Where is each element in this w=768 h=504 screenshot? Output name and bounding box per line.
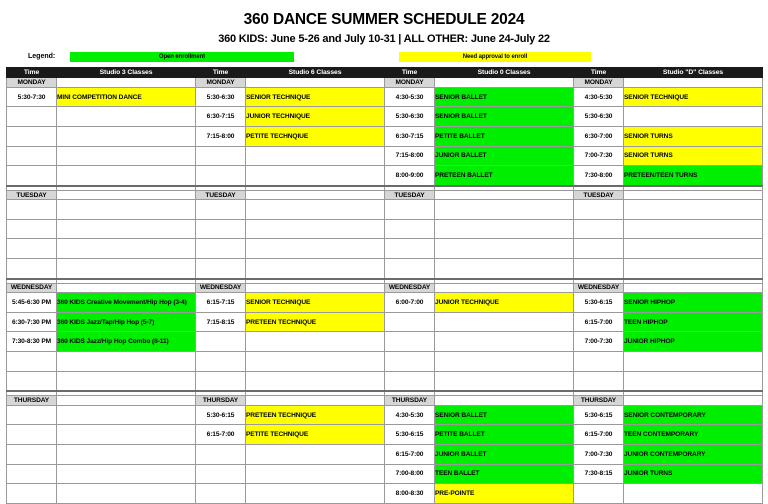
class-time: 8:00-9:00 (385, 166, 435, 186)
table-row: 6:15-7:00PETITE TECHNIQUE5:30-6:15PETITE… (7, 425, 763, 445)
class-time: 7:30-8:30 PM (7, 332, 57, 352)
class-entry-empty (246, 219, 385, 239)
class-time: 7:15-8:00 (196, 126, 246, 146)
class-time: 7:00-7:30 (574, 146, 624, 166)
class-entry-empty (57, 405, 196, 425)
day-label-wednesday: WEDNESDAY (196, 283, 246, 293)
class-time (196, 146, 246, 166)
legend-need-approval: Need approval to enroll (399, 52, 591, 62)
class-time: 4:30-5:30 (385, 87, 435, 107)
day-header-blank (246, 78, 385, 88)
class-time (7, 239, 57, 259)
table-row: 7:15-8:00JUNIOR BALLET7:00-7:30SENIOR TU… (7, 146, 763, 166)
day-header-blank (624, 396, 763, 406)
class-time (7, 166, 57, 186)
class-entry[interactable]: SENIOR TURNS (624, 146, 763, 166)
class-time (574, 259, 624, 279)
class-time (7, 464, 57, 484)
table-row (7, 219, 763, 239)
class-time (196, 239, 246, 259)
day-header-blank (624, 190, 763, 200)
schedule-table: Time Studio 3 Classes Time Studio 6 Clas… (6, 67, 763, 504)
class-entry[interactable]: SENIOR BALLET (435, 107, 574, 127)
table-row: 5:30-7:30MINI COMPETITION DANCE5:30-6:30… (7, 87, 763, 107)
table-row (7, 352, 763, 372)
day-header-blank (57, 78, 196, 88)
class-entry[interactable]: PETITE TECHNQIUE (246, 126, 385, 146)
day-header-blank (435, 78, 574, 88)
class-entry-empty (624, 259, 763, 279)
table-row: 7:00-8:00TEEN BALLET7:30-8:15JUNIOR TURN… (7, 464, 763, 484)
table-row (7, 200, 763, 220)
page-subtitle: 360 KIDS: June 5-26 and July 10-31 | ALL… (6, 28, 762, 45)
day-header-blank (624, 78, 763, 88)
table-row: 6:30-7:30 PM360 KIDS Jazz/Tap/Hip Hop (5… (7, 312, 763, 332)
class-time (196, 200, 246, 220)
class-entry-empty (246, 332, 385, 352)
table-row: 6:15-7:00JUNIOR BALLET7:00-7:30JUNIOR CO… (7, 445, 763, 465)
day-header-blank (246, 396, 385, 406)
class-entry[interactable]: TEEN CONTEMPORARY (624, 425, 763, 445)
class-time: 7:00-7:30 (574, 332, 624, 352)
schedule-body: MONDAYMONDAYMONDAYMONDAY5:30-7:30MINI CO… (7, 78, 763, 504)
class-entry-empty (624, 219, 763, 239)
col-time-4: Time (574, 68, 624, 78)
class-time (7, 484, 57, 504)
class-entry-empty (624, 239, 763, 259)
class-entry[interactable]: TEEN HIPHOP (624, 312, 763, 332)
class-entry-empty (246, 371, 385, 391)
class-entry[interactable]: PETITE TECHNIQUE (246, 425, 385, 445)
class-time (196, 484, 246, 504)
class-time: 6:15-7:00 (385, 445, 435, 465)
class-time (196, 219, 246, 239)
class-time (7, 126, 57, 146)
day-header-blank (435, 190, 574, 200)
class-entry-empty (57, 126, 196, 146)
class-time (7, 405, 57, 425)
class-time (7, 259, 57, 279)
class-time (385, 312, 435, 332)
day-header-row-monday: MONDAYMONDAYMONDAYMONDAY (7, 78, 763, 88)
legend: Legend: Open enrollment Need approval to… (6, 51, 762, 62)
day-header-blank (435, 283, 574, 293)
day-header-blank (246, 190, 385, 200)
table-row: 5:30-6:15PRETEEN TECHNIQUE4:30-5:30SENIO… (7, 405, 763, 425)
day-label-tuesday: TUESDAY (385, 190, 435, 200)
class-time: 6:15-7:00 (574, 312, 624, 332)
class-time (574, 352, 624, 372)
day-label-monday: MONDAY (385, 78, 435, 88)
class-time (196, 371, 246, 391)
class-time: 6:30-7:30 PM (7, 312, 57, 332)
class-entry-empty (624, 484, 763, 504)
class-time (7, 146, 57, 166)
class-entry-empty (435, 259, 574, 279)
class-time (385, 239, 435, 259)
table-row: 8:00-8:30PRE-POINTE (7, 484, 763, 504)
page-title: 360 DANCE SUMMER SCHEDULE 2024 (6, 0, 762, 28)
class-time: 7:00-8:00 (385, 464, 435, 484)
class-time (7, 445, 57, 465)
day-label-monday: MONDAY (574, 78, 624, 88)
class-time: 6:15-7:00 (574, 425, 624, 445)
class-entry[interactable]: TEEN BALLET (435, 464, 574, 484)
class-time: 6:00-7:00 (385, 293, 435, 313)
class-entry[interactable]: PETITE BALLET (435, 126, 574, 146)
class-entry[interactable]: PRETEEN TECHNIQUE (246, 405, 385, 425)
class-entry[interactable]: JUNIOR TECHNIQUE (435, 293, 574, 313)
table-row (7, 371, 763, 391)
class-time (385, 352, 435, 372)
table-row (7, 259, 763, 279)
class-entry-empty (57, 425, 196, 445)
class-time (196, 445, 246, 465)
class-entry[interactable]: SENIOR TECHNIQUE (624, 87, 763, 107)
day-label-thursday: THURSDAY (7, 396, 57, 406)
class-entry-empty (57, 445, 196, 465)
class-time: 5:30-6:30 (385, 107, 435, 127)
class-entry-empty (246, 484, 385, 504)
day-label-tuesday: TUESDAY (7, 190, 57, 200)
class-time (385, 200, 435, 220)
table-header-row: Time Studio 3 Classes Time Studio 6 Clas… (7, 68, 763, 78)
class-time (7, 352, 57, 372)
day-header-row-wednesday: WEDNESDAYWEDNESDAYWEDNESDAYWEDNESDAY (7, 283, 763, 293)
class-entry[interactable]: JUNIOR TURNS (624, 464, 763, 484)
class-entry[interactable]: JUNIOR BALLET (435, 445, 574, 465)
day-label-wednesday: WEDNESDAY (7, 283, 57, 293)
class-entry-empty (246, 146, 385, 166)
class-time: 5:30-6:30 (196, 87, 246, 107)
class-time (196, 464, 246, 484)
table-row: 8:00-9:00PRETEEN BALLET7:30-8:00PRETEEN/… (7, 166, 763, 186)
class-entry-empty (435, 239, 574, 259)
class-time: 7:00-7:30 (574, 445, 624, 465)
class-entry-empty (246, 200, 385, 220)
class-entry-empty (246, 239, 385, 259)
col-time-1: Time (7, 68, 57, 78)
class-time: 5:45-6:30 PM (7, 293, 57, 313)
class-time: 4:30-5:30 (385, 405, 435, 425)
day-header-blank (435, 396, 574, 406)
class-entry[interactable]: SENIOR CONTEMPORARY (624, 405, 763, 425)
class-entry[interactable]: 360 KIDS Jazz/Tap/Hip Hop (5-7) (57, 312, 196, 332)
class-time: 4:30-5:30 (574, 87, 624, 107)
class-time (7, 107, 57, 127)
class-entry-empty (57, 371, 196, 391)
day-label-thursday: THURSDAY (385, 396, 435, 406)
class-time: 6:15-7:00 (196, 425, 246, 445)
class-time: 5:30-7:30 (7, 87, 57, 107)
class-entry[interactable]: JUNIOR BALLET (435, 146, 574, 166)
class-time: 8:00-8:30 (385, 484, 435, 504)
class-entry[interactable]: 360 KIDS Jazz/Hip Hop Combo (8-11) (57, 332, 196, 352)
class-time: 5:30-6:15 (574, 293, 624, 313)
day-header-blank (57, 190, 196, 200)
col-studio3: Studio 3 Classes (57, 68, 196, 78)
day-header-blank (624, 283, 763, 293)
class-entry-empty (57, 352, 196, 372)
day-header-row-thursday: THURSDAYTHURSDAYTHURSDAYTHURSDAY (7, 396, 763, 406)
schedule-page: 360 DANCE SUMMER SCHEDULE 2024 360 KIDS:… (0, 0, 768, 478)
day-label-tuesday: TUESDAY (196, 190, 246, 200)
class-time (574, 484, 624, 504)
class-time (196, 332, 246, 352)
class-entry[interactable]: SENIOR HIPHOP (624, 293, 763, 313)
class-time: 5:30-6:15 (385, 425, 435, 445)
table-row (7, 239, 763, 259)
col-time-2: Time (196, 68, 246, 78)
day-label-tuesday: TUESDAY (574, 190, 624, 200)
class-time (7, 425, 57, 445)
class-time (385, 259, 435, 279)
class-entry-empty (246, 166, 385, 186)
class-entry[interactable]: 360 KIDS Creative Movement/Hip Hop (3-4) (57, 293, 196, 313)
class-entry[interactable]: PRE-POINTE (435, 484, 574, 504)
class-entry[interactable]: SENIOR BALLET (435, 87, 574, 107)
class-entry[interactable]: SENIOR TURNS (624, 126, 763, 146)
day-label-wednesday: WEDNESDAY (574, 283, 624, 293)
class-entry-empty (57, 219, 196, 239)
class-time: 5:30-6:15 (196, 405, 246, 425)
class-entry-empty (57, 464, 196, 484)
class-time: 5:30-6:15 (574, 405, 624, 425)
class-time (196, 352, 246, 372)
table-row: 7:15-8:00PETITE TECHNQIUE6:30-7:15PETITE… (7, 126, 763, 146)
class-entry-empty (57, 239, 196, 259)
class-entry[interactable]: MINI COMPETITION DANCE (57, 87, 196, 107)
day-label-thursday: THURSDAY (574, 396, 624, 406)
table-row: 5:45-6:30 PM360 KIDS Creative Movement/H… (7, 293, 763, 313)
class-entry[interactable]: JUNIOR CONTEMPORARY (624, 445, 763, 465)
class-time: 7:15-8:15 (196, 312, 246, 332)
col-studioD: Studio "D" Classes (624, 68, 763, 78)
col-studio6: Studio 6 Classes (246, 68, 385, 78)
table-row: 7:30-8:30 PM360 KIDS Jazz/Hip Hop Combo … (7, 332, 763, 352)
class-entry[interactable]: PRETEEN BALLET (435, 166, 574, 186)
class-time (7, 219, 57, 239)
legend-label: Legend: (28, 53, 70, 60)
day-label-thursday: THURSDAY (196, 396, 246, 406)
class-entry[interactable]: SENIOR TECHNIQUE (246, 87, 385, 107)
col-studio0: Studio 0 Classes (435, 68, 574, 78)
class-time (574, 219, 624, 239)
class-entry-empty (435, 219, 574, 239)
class-entry-empty (57, 200, 196, 220)
class-time: 7:30-8:00 (574, 166, 624, 186)
day-header-blank (57, 283, 196, 293)
class-entry-empty (246, 259, 385, 279)
class-entry-empty (624, 107, 763, 127)
class-entry-empty (57, 484, 196, 504)
day-label-wednesday: WEDNESDAY (385, 283, 435, 293)
class-entry-empty (435, 352, 574, 372)
class-entry[interactable]: PETITE BALLET (435, 425, 574, 445)
class-time: 5:30-6:30 (574, 107, 624, 127)
class-entry-empty (57, 166, 196, 186)
class-entry-empty (246, 352, 385, 372)
class-entry-empty (246, 445, 385, 465)
class-time: 6:30-7:00 (574, 126, 624, 146)
class-time (7, 371, 57, 391)
class-entry[interactable]: PRETEEN/TEEN TURNS (624, 166, 763, 186)
class-entry-empty (624, 352, 763, 372)
class-time: 7:15-8:00 (385, 146, 435, 166)
class-time (196, 259, 246, 279)
class-entry-empty (435, 200, 574, 220)
day-label-monday: MONDAY (196, 78, 246, 88)
class-time: 7:30-8:15 (574, 464, 624, 484)
class-entry-empty (57, 259, 196, 279)
class-time (196, 166, 246, 186)
class-entry[interactable]: JUNIOR HIPHOP (624, 332, 763, 352)
class-entry[interactable]: JUNIOR TECHNIQUE (246, 107, 385, 127)
class-entry-empty (435, 332, 574, 352)
class-entry[interactable]: PRETEEN TECHNIQUE (246, 312, 385, 332)
col-time-3: Time (385, 68, 435, 78)
class-time (7, 200, 57, 220)
class-time: 6:30-7:15 (385, 126, 435, 146)
class-entry-empty (246, 464, 385, 484)
legend-open-enrollment: Open enrollment (70, 52, 294, 62)
table-row: 6:30-7:15JUNIOR TECHNIQUE5:30-6:30SENIOR… (7, 107, 763, 127)
day-label-monday: MONDAY (7, 78, 57, 88)
class-time (385, 371, 435, 391)
class-time (385, 219, 435, 239)
day-header-row-tuesday: TUESDAYTUESDAYTUESDAYTUESDAY (7, 190, 763, 200)
class-time (385, 332, 435, 352)
class-time (574, 200, 624, 220)
class-time: 6:30-7:15 (196, 107, 246, 127)
class-time: 6:15-7:15 (196, 293, 246, 313)
day-header-blank (246, 283, 385, 293)
day-header-blank (57, 396, 196, 406)
class-time (574, 371, 624, 391)
class-entry-empty (435, 371, 574, 391)
class-entry[interactable]: SENIOR TECHNIQUE (246, 293, 385, 313)
class-time (574, 239, 624, 259)
class-entry[interactable]: SENIOR BALLET (435, 405, 574, 425)
class-entry-empty (435, 312, 574, 332)
class-entry-empty (57, 107, 196, 127)
class-entry-empty (624, 200, 763, 220)
class-entry-empty (624, 371, 763, 391)
class-entry-empty (57, 146, 196, 166)
